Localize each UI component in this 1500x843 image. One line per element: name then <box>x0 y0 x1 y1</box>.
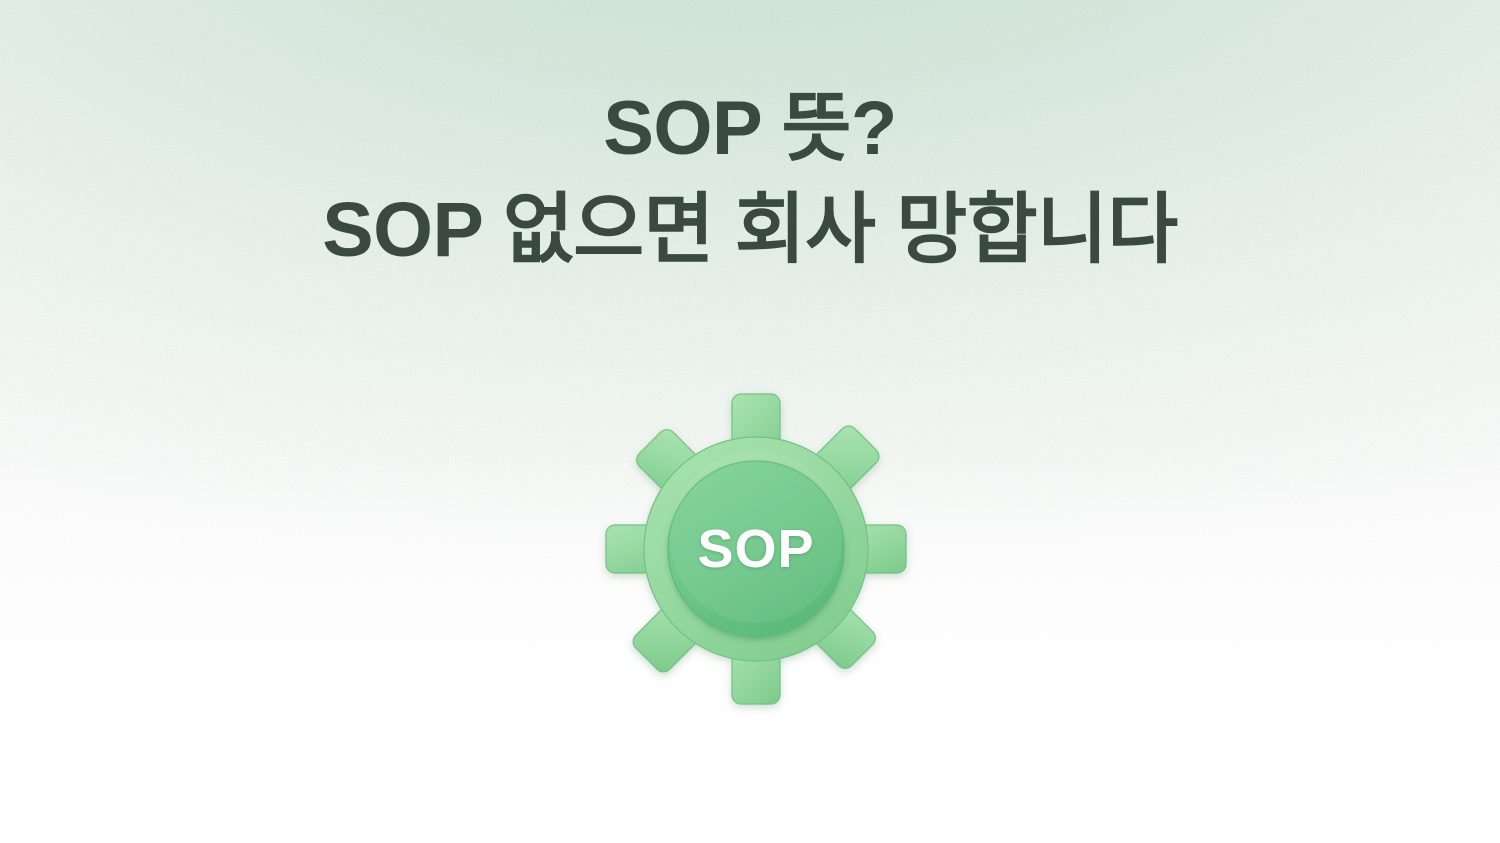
page-title: SOP 뜻? SOP 없으면 회사 망합니다 <box>0 78 1500 281</box>
headline-line-1: SOP 뜻? <box>0 78 1500 179</box>
gear-icon <box>606 394 906 704</box>
headline-line-2: SOP 없으면 회사 망합니다 <box>0 179 1500 281</box>
slide-canvas: SOP 뜻? SOP 없으면 회사 망합니다 <box>0 0 1500 843</box>
gear-graphic: SOP <box>606 394 906 704</box>
